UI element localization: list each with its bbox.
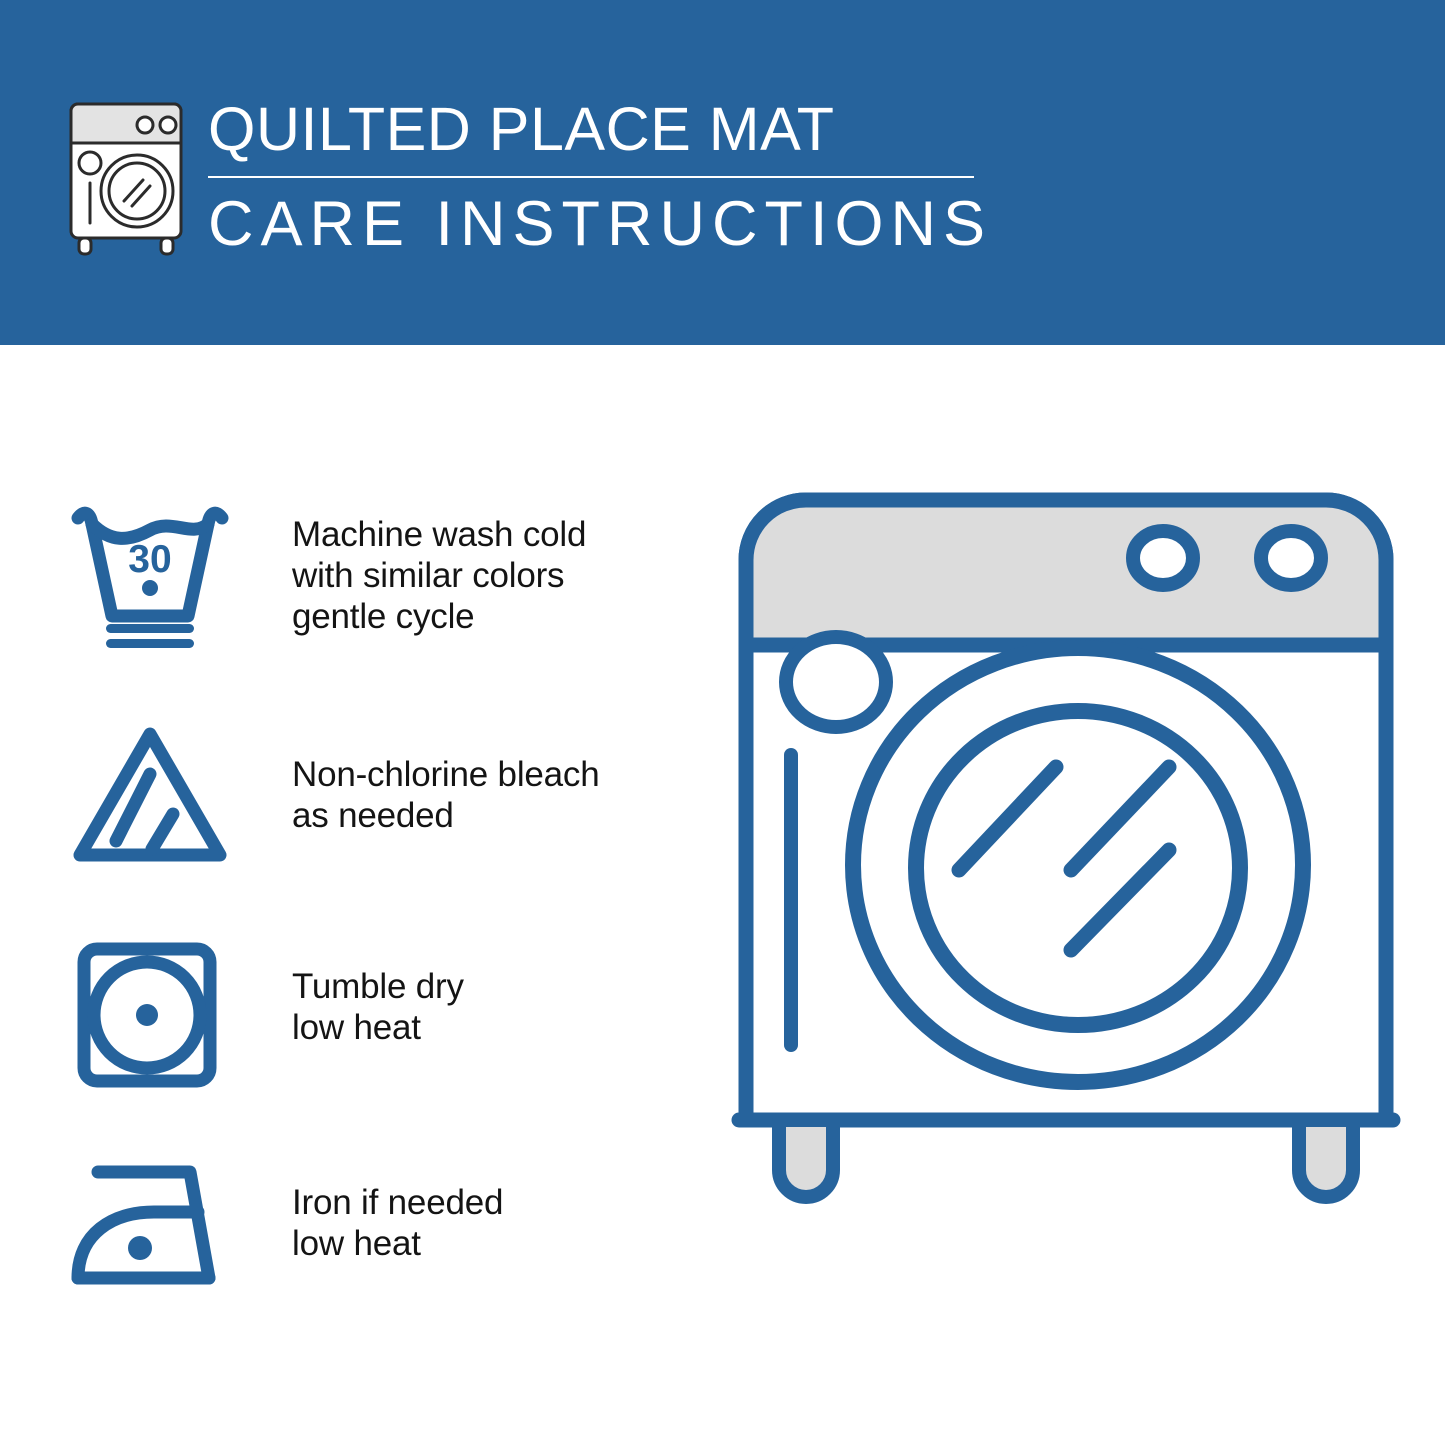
page-subtitle: CARE INSTRUCTIONS xyxy=(208,190,998,258)
list-item-label: Iron if needed low heat xyxy=(292,1182,692,1264)
title-divider xyxy=(208,176,974,178)
machine-leg-left xyxy=(779,1120,833,1197)
machine-knob-right xyxy=(1261,531,1321,585)
machine-wash-30-gentle-symbol: 30 xyxy=(70,500,230,650)
list-item-label: Machine wash cold with similar colors ge… xyxy=(292,514,692,637)
tumble-dry-low-symbol xyxy=(70,940,230,1090)
iron-low-heat-symbol xyxy=(70,1150,230,1300)
list-item-label: Tumble dry low heat xyxy=(292,966,692,1048)
svg-text:30: 30 xyxy=(128,538,171,581)
non-chlorine-bleach-symbol xyxy=(70,722,230,872)
machine-dial xyxy=(786,637,886,727)
machine-leg-right xyxy=(1299,1120,1353,1197)
page-title: QUILTED PLACE MAT xyxy=(208,96,998,162)
header-title-block: QUILTED PLACE MAT CARE INSTRUCTIONS xyxy=(208,96,998,258)
header-banner: QUILTED PLACE MAT CARE INSTRUCTIONS xyxy=(0,0,1445,345)
care-symbol-list: 30 Machine wash cold with similar colors… xyxy=(0,345,700,1445)
care-instructions-page: QUILTED PLACE MAT CARE INSTRUCTIONS 30 xyxy=(0,0,1445,1445)
list-item-label: Non-chlorine bleach as needed xyxy=(292,754,692,836)
front-load-washing-machine-illustration xyxy=(716,470,1416,1370)
washing-machine-icon xyxy=(62,98,190,256)
machine-knob-left xyxy=(1133,531,1193,585)
